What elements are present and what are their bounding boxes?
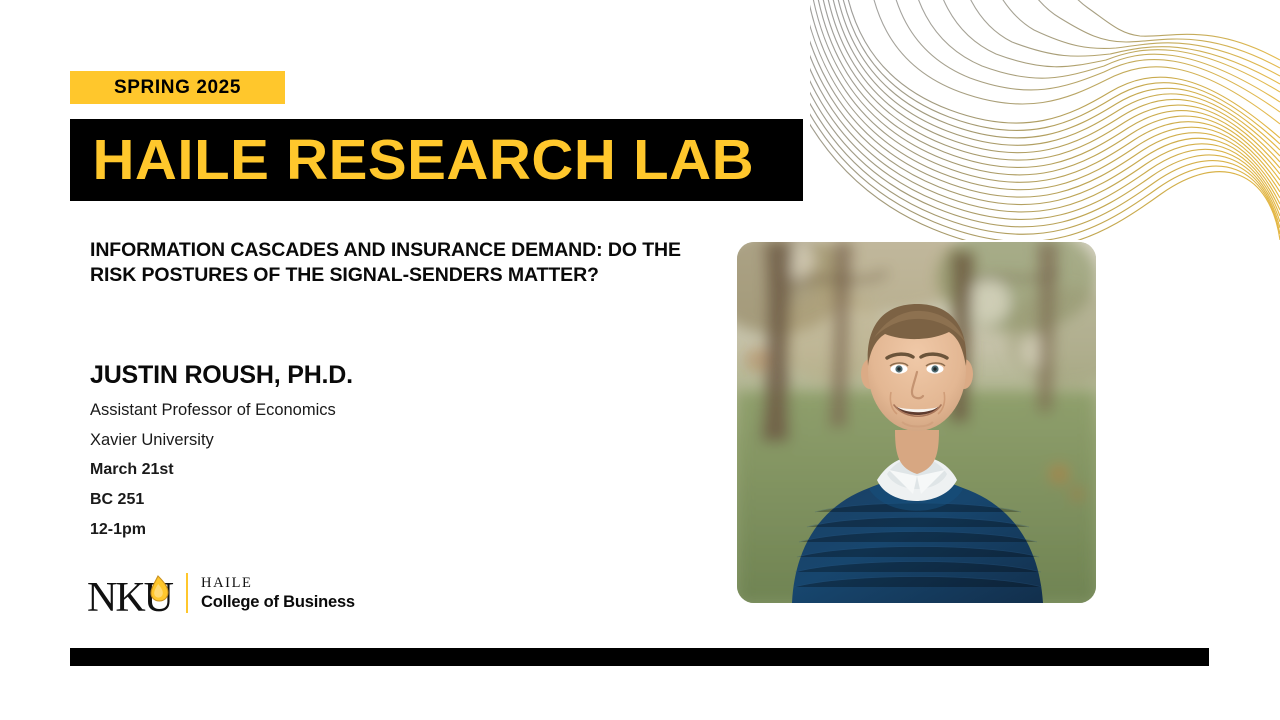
- series-title-label: HAILE RESEARCH LAB: [70, 132, 754, 189]
- event-location: BC 251: [90, 485, 650, 515]
- logo-text: HAILE College of Business: [201, 575, 355, 612]
- nku-haile-college-of-business-logo: NKU HAILE College of Business: [88, 568, 355, 618]
- event-date: March 21st: [90, 455, 650, 485]
- term-badge-label: SPRING 2025: [114, 78, 241, 97]
- nku-wordmark-icon: NKU: [88, 568, 184, 618]
- speaker-photo: [737, 242, 1096, 603]
- speaker-name: JUSTIN ROUSH, PH.D.: [90, 360, 650, 390]
- concentric-wave-lines-decoration: [810, 0, 1280, 240]
- logo-divider: [186, 573, 188, 613]
- speaker-details: JUSTIN ROUSH, PH.D. Assistant Professor …: [90, 360, 650, 545]
- logo-school-name: HAILE: [201, 575, 355, 592]
- logo-college-name: College of Business: [201, 592, 355, 612]
- talk-title: INFORMATION CASCADES AND INSURANCE DEMAN…: [90, 238, 690, 288]
- bottom-rule: [70, 648, 1209, 666]
- speaker-title: Assistant Professor of Economics: [90, 395, 650, 425]
- term-badge: SPRING 2025: [70, 71, 285, 104]
- event-time: 12-1pm: [90, 515, 650, 545]
- speaker-affiliation: Xavier University: [90, 425, 650, 455]
- series-title-banner: HAILE RESEARCH LAB: [70, 119, 803, 201]
- presentation-slide: SPRING 2025 HAILE RESEARCH LAB INFORMATI…: [0, 0, 1280, 720]
